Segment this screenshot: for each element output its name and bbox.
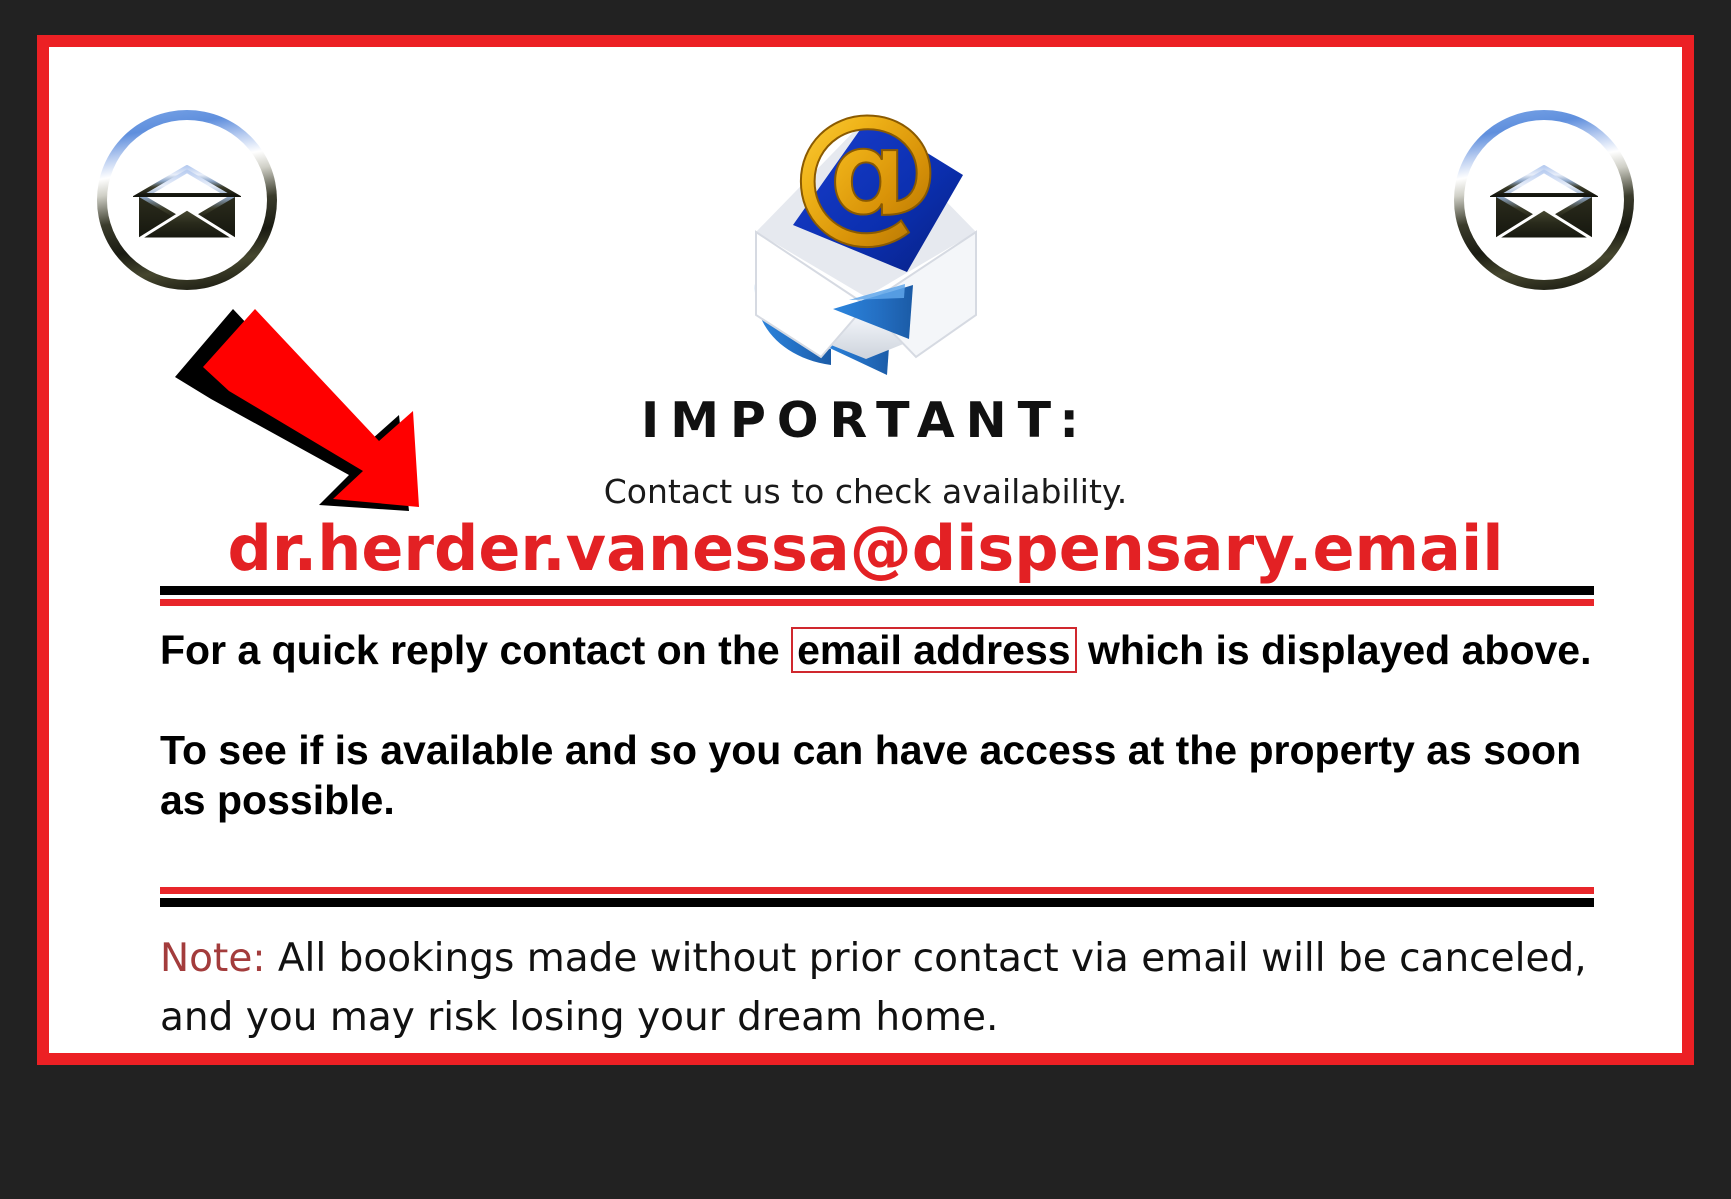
divider-top (160, 586, 1594, 606)
envelope-icon (133, 165, 241, 243)
note-label: Note: (160, 936, 265, 981)
paragraph-availability: To see if is available and so you can ha… (160, 725, 1594, 825)
divider-bottom (160, 887, 1594, 907)
paragraph-quick-reply: For a quick reply contact on the email a… (160, 625, 1594, 675)
envelope-circle-icon-left (97, 110, 277, 290)
paragraph1-before-text: For a quick reply contact on the (160, 627, 791, 673)
subheading: Contact us to check availability. (49, 472, 1682, 511)
envelope-icon (1490, 165, 1598, 243)
divider-red-bar (160, 887, 1594, 894)
svg-text:@: @ (791, 83, 941, 257)
page-title: IMPORTANT: (49, 392, 1682, 449)
body-text-block: For a quick reply contact on the email a… (160, 625, 1594, 825)
divider-red-bar (160, 599, 1594, 606)
red-frame-border: @ IM (37, 35, 1694, 1065)
paragraph1-after-text: which is displayed above. (1077, 627, 1592, 673)
white-card: @ IM (49, 47, 1682, 1053)
note-text: All bookings made without prior contact … (160, 936, 1587, 1040)
divider-black-bar (160, 586, 1594, 595)
at-email-envelope-icon: @ (701, 57, 1031, 387)
note-block: Note: All bookings made without prior co… (160, 929, 1594, 1047)
divider-black-bar (160, 898, 1594, 907)
email-address-highlight-box: email address (791, 627, 1077, 673)
email-address-display[interactable]: dr.herder.vanessa@dispensary.email (49, 512, 1682, 585)
poster-root: @ IM (0, 0, 1731, 1199)
envelope-circle-icon-right (1454, 110, 1634, 290)
